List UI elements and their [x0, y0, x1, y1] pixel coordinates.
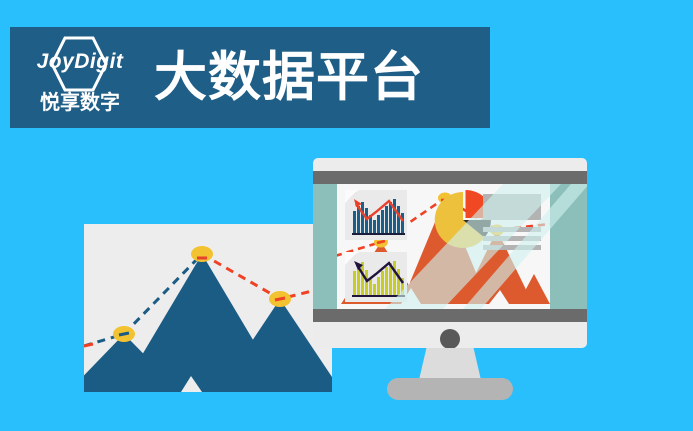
- text-block-line: [483, 227, 541, 232]
- text-block-line: [483, 236, 541, 241]
- monitor-top-toolbar: [313, 171, 587, 184]
- desktop-monitor: [313, 158, 587, 348]
- left-hero-chart-panel: [84, 224, 332, 392]
- dashboard-viewport: [337, 184, 550, 309]
- monitor-power-button[interactable]: [440, 329, 460, 349]
- monitor-bottom-toolbar: [313, 309, 587, 322]
- left-hero-mountains-svg: [84, 224, 332, 392]
- brand-subtitle: 悦享数字: [24, 93, 136, 113]
- brand-logo[interactable]: JoyDigit 悦享数字: [24, 35, 136, 121]
- monitor-stand-base: [387, 378, 513, 400]
- bar-chart-axis: [352, 295, 405, 297]
- text-block-heading: [483, 194, 541, 220]
- monitor-stand-neck: [419, 348, 481, 380]
- text-block-line: [483, 245, 541, 250]
- bar-chart-card-bottom[interactable]: [345, 252, 407, 302]
- bar-chart-axis: [352, 233, 405, 235]
- bar-chart-top-svg: [345, 190, 407, 240]
- header-banner: JoyDigit 悦享数字 大数据平台: [10, 27, 490, 128]
- data-node-marker[interactable]: [191, 246, 213, 262]
- monitor-screen: [313, 184, 587, 309]
- node-dash-overlay: [119, 333, 129, 335]
- trendline-red-stub: [84, 344, 93, 346]
- poster-canvas: JoyDigit 悦享数字 大数据平台: [0, 0, 693, 431]
- page-title: 大数据平台: [154, 51, 424, 104]
- node-dash-overlay: [275, 298, 285, 300]
- brand-wordmark: JoyDigit: [24, 51, 136, 72]
- text-summary-block: [483, 194, 541, 254]
- bar-chart-card-top[interactable]: [345, 190, 407, 240]
- bar-chart-bottom-svg: [345, 252, 407, 302]
